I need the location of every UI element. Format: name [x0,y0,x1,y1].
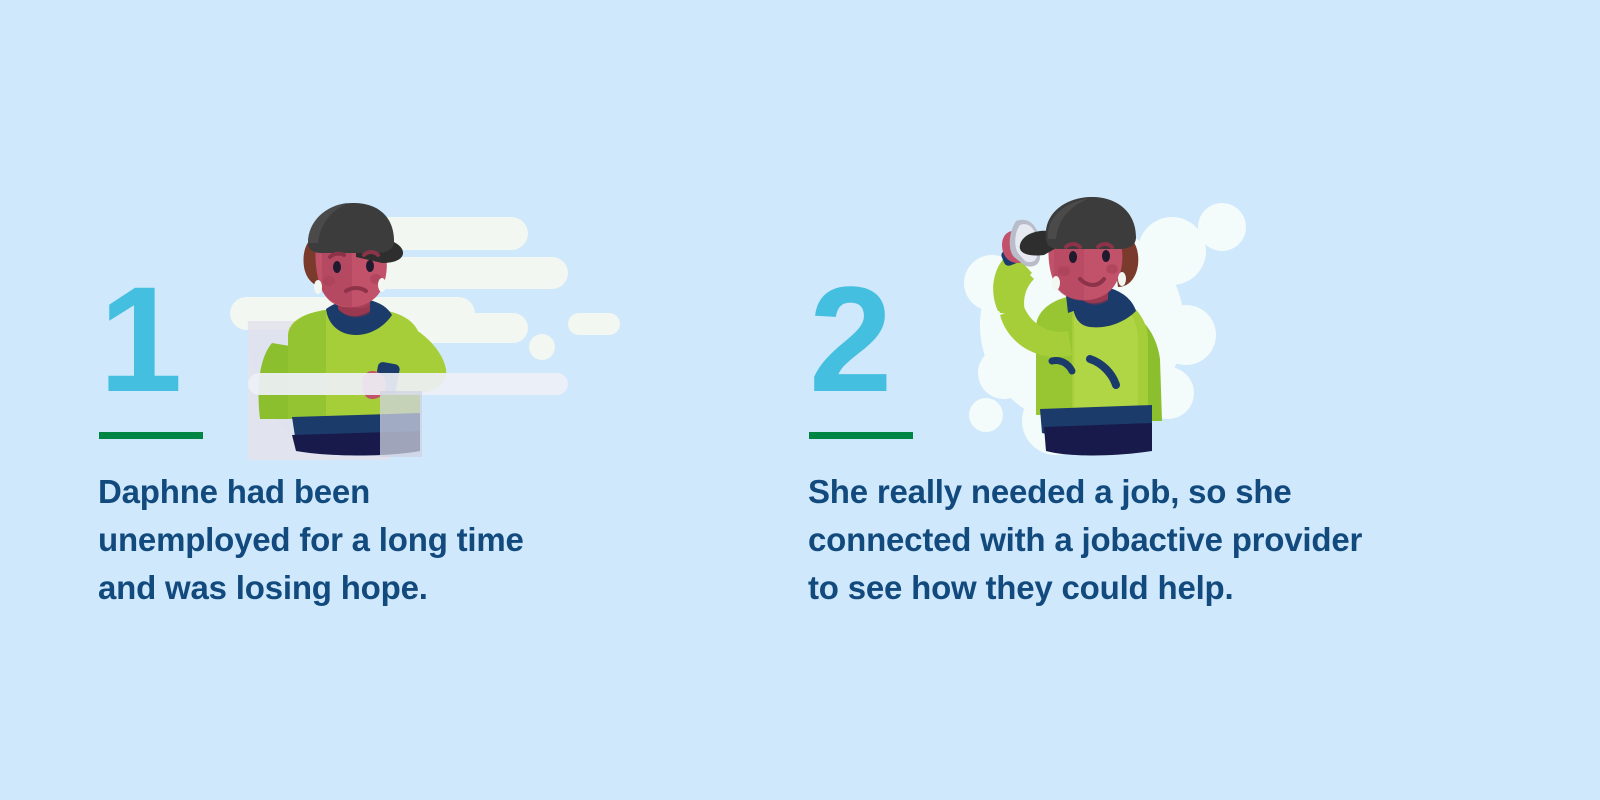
step-rule-1 [99,432,203,439]
caption-line: to see how they could help. [808,564,1498,612]
caption-line: She really needed a job, so she [808,468,1498,516]
step-panel-1: 1 Daphne had been unemployed for a long … [90,0,810,800]
step-caption-1: Daphne had been unemployed for a long ti… [98,468,788,612]
infographic-canvas: 1 Daphne had been unemployed for a long … [0,0,1600,800]
step-number-2: 2 [809,264,890,414]
step-rule-2 [809,432,913,439]
caption-line: and was losing hope. [98,564,788,612]
caption-line: connected with a jobactive provider [808,516,1498,564]
illustration-woman-on-phone [940,195,1360,460]
caption-line: unemployed for a long time [98,516,788,564]
step-number-1: 1 [99,264,180,414]
illustration-woman-standing [230,195,650,460]
step-caption-2: She really needed a job, so she connecte… [808,468,1498,612]
step-panel-2: 2 She really needed a job, so she connec… [800,0,1520,800]
caption-line: Daphne had been [98,468,788,516]
